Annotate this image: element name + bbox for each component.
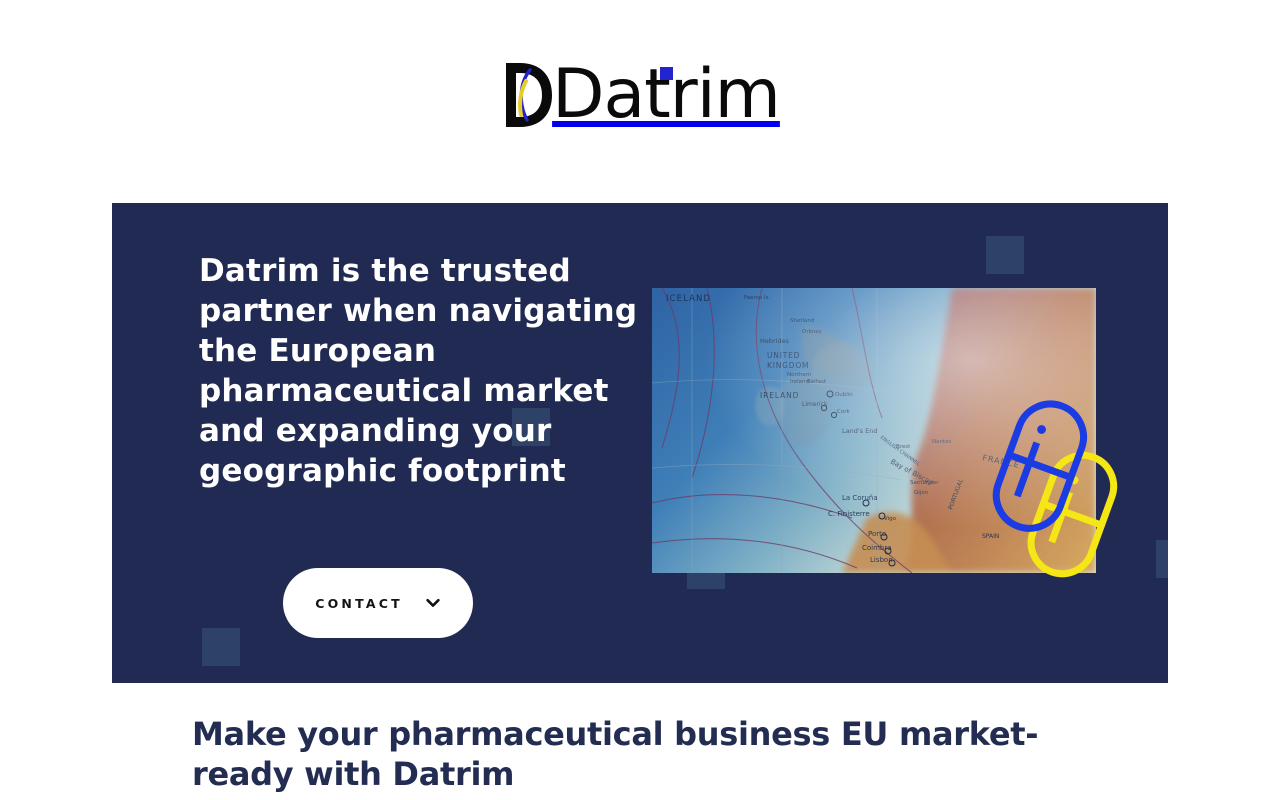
brand-logo-link[interactable]: Datrim (500, 55, 780, 135)
pill-capsules-graphic (987, 393, 1147, 593)
section-heading: Make your pharmaceutical business EU mar… (192, 714, 1092, 794)
page-root: Datrim (0, 0, 1280, 800)
hero-inner: ICELAND Faeroe Is. Shetland Orkney Hebri… (112, 203, 1168, 683)
contact-button[interactable]: CONTACT (283, 568, 473, 638)
site-header: Datrim (0, 0, 1280, 190)
hero-heading: Datrim is the trusted partner when navig… (199, 251, 639, 491)
hero-section: ICELAND Faeroe Is. Shetland Orkney Hebri… (112, 203, 1168, 683)
decor-square-top-right (986, 236, 1024, 274)
logo-i-dot-icon (660, 67, 673, 80)
brand-logo-wordmark: Datrim (552, 61, 780, 129)
decor-square-right-edge (1156, 540, 1168, 578)
chevron-down-icon (425, 595, 441, 611)
decor-square-bottom-left (202, 628, 240, 666)
datrim-d-monogram-icon (500, 59, 556, 131)
contact-button-label: CONTACT (315, 596, 403, 611)
